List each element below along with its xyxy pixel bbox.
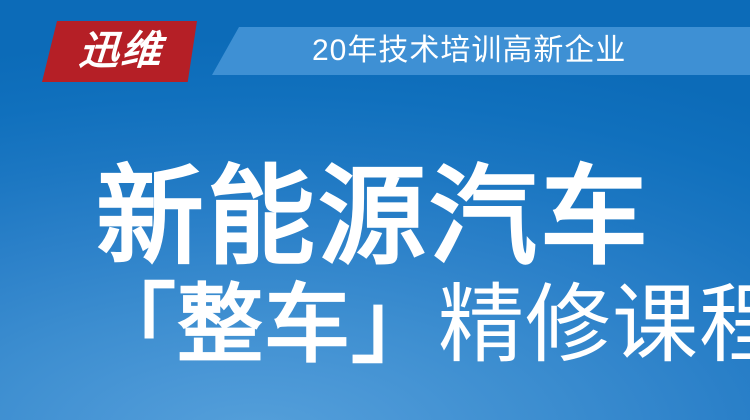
headline-secondary-bracketed: 「整车」 <box>90 277 438 373</box>
promo-poster: 20年技术培训高新企业 迅维 新能源汽车 「整车」精修课程 <box>0 0 750 420</box>
headline-primary: 新能源汽车 <box>96 163 651 271</box>
headline-secondary: 「整车」精修课程 <box>90 282 750 368</box>
headline-secondary-plain: 精修课程 <box>438 277 750 373</box>
headline-block: 新能源汽车 「整车」精修课程 <box>0 0 750 420</box>
